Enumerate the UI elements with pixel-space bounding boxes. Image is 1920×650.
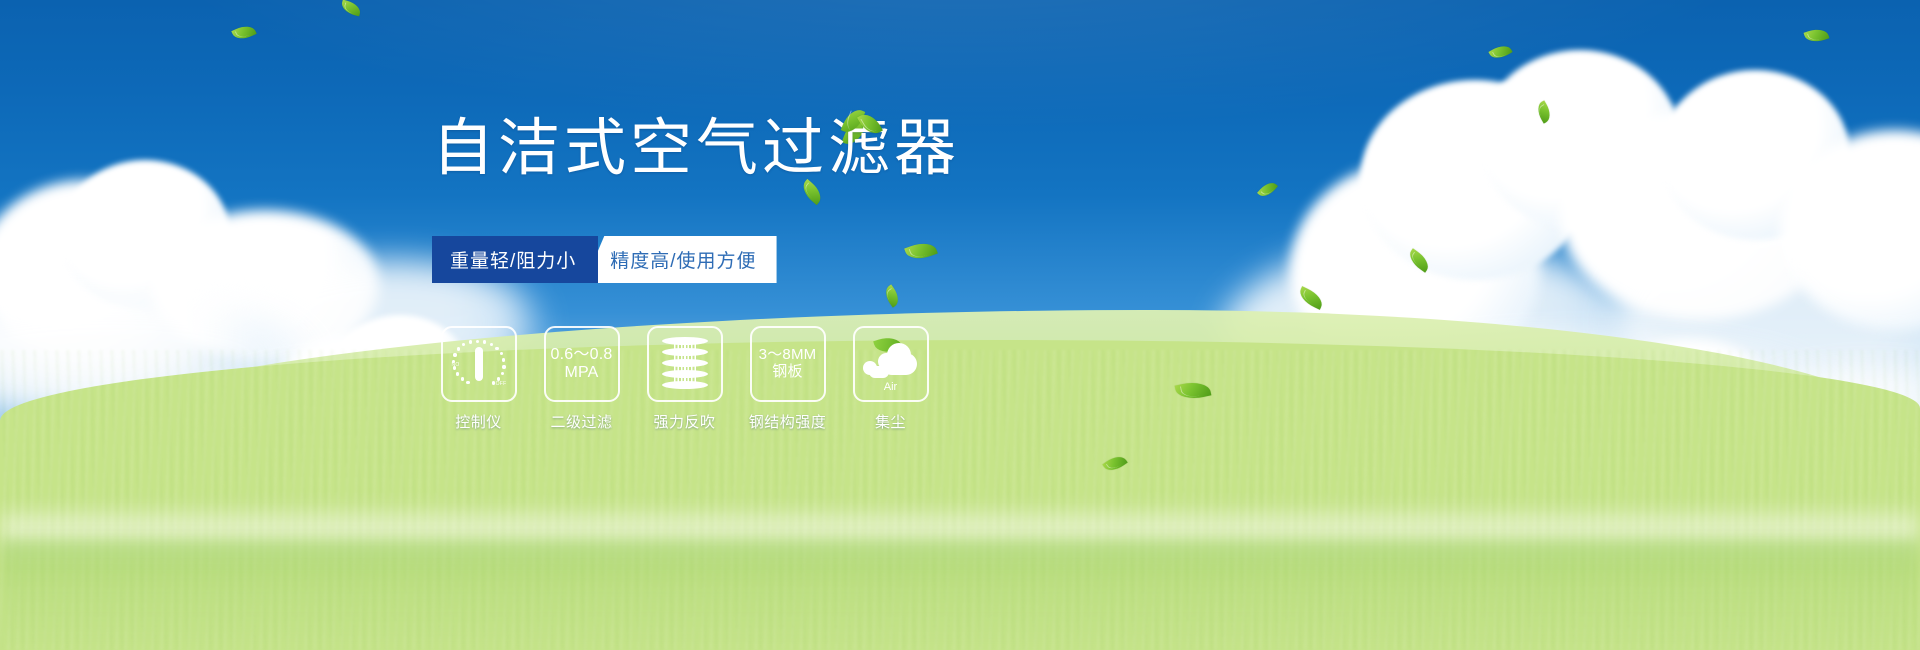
steel-thickness: 3～8MM bbox=[759, 347, 817, 364]
air-cloud-icon: Air bbox=[863, 339, 919, 389]
feature-icon-box bbox=[647, 326, 723, 402]
feature-item-controller[interactable]: NO OFF 控制仪 bbox=[440, 326, 517, 432]
air-label: Air bbox=[863, 381, 919, 393]
feature-caption: 控制仪 bbox=[455, 411, 502, 432]
feature-item-steel[interactable]: 3～8MM 钢板 钢结构强度 bbox=[749, 326, 826, 432]
tag-secondary[interactable]: 精度高/使用方便 bbox=[584, 236, 776, 283]
feature-icon-box: 3～8MM 钢板 bbox=[750, 326, 826, 402]
feature-item-backblow[interactable]: 强力反吹 bbox=[646, 326, 723, 432]
gauge-label-no: NO bbox=[452, 363, 460, 369]
gauge-label-off: OFF bbox=[496, 382, 507, 388]
feature-item-pressure[interactable]: 0.6～0.8 MPA 二级过滤 bbox=[543, 326, 620, 432]
gauge-needle bbox=[475, 347, 483, 381]
feature-icon-box: 0.6～0.8 MPA bbox=[544, 326, 620, 402]
filter-stack-icon bbox=[658, 337, 712, 391]
banner-content: 自洁式空气过滤器 重量轻/阻力小 精度高/使用方便 bbox=[0, 0, 1920, 650]
hero-banner: 自洁式空气过滤器 重量轻/阻力小 精度高/使用方便 bbox=[0, 0, 1920, 650]
feature-item-dust[interactable]: Air 集尘 bbox=[852, 326, 929, 432]
gauge-icon: NO OFF bbox=[453, 339, 505, 389]
pressure-unit: MPA bbox=[564, 364, 598, 382]
feature-caption: 强力反吹 bbox=[653, 411, 715, 432]
feature-caption: 二级过滤 bbox=[550, 411, 612, 432]
feature-tag-bar: 重量轻/阻力小 精度高/使用方便 bbox=[432, 236, 777, 283]
steel-material: 钢板 bbox=[772, 364, 802, 381]
pressure-value: 0.6～0.8 bbox=[551, 346, 613, 364]
feature-icon-box: Air bbox=[853, 326, 929, 402]
tag-primary[interactable]: 重量轻/阻力小 bbox=[432, 236, 598, 283]
feature-list: NO OFF 控制仪 0.6～0.8 MPA 二级过滤 bbox=[440, 326, 929, 432]
feature-caption: 集尘 bbox=[875, 411, 906, 432]
feature-icon-box: NO OFF bbox=[441, 326, 517, 402]
feature-caption: 钢结构强度 bbox=[749, 411, 827, 432]
